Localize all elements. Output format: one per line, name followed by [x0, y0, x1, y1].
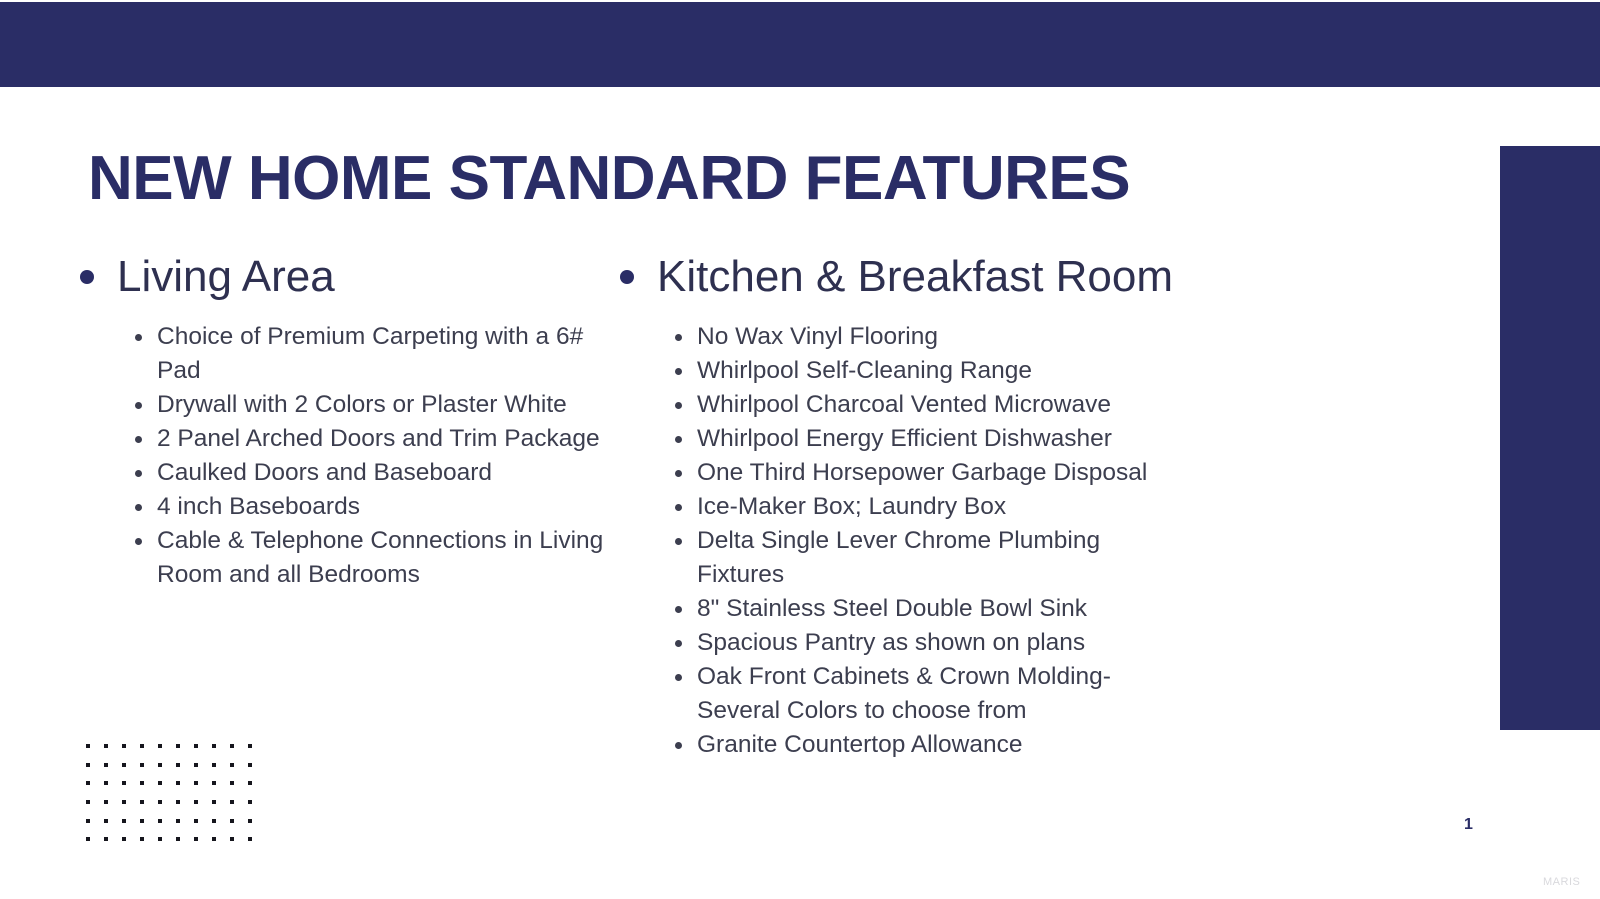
dot [86, 781, 90, 785]
list-item: Cable & Telephone Connections in Living … [135, 524, 620, 592]
dot [140, 781, 144, 785]
dot [104, 837, 108, 841]
dot [158, 837, 162, 841]
list-item: Oak Front Cabinets & Crown Molding- Seve… [675, 660, 1167, 728]
dot [212, 819, 216, 823]
right-navy-bar [1500, 146, 1600, 730]
dot [248, 763, 252, 767]
dot [230, 800, 234, 804]
list-item: Spacious Pantry as shown on plans [675, 626, 1167, 660]
dot [194, 763, 198, 767]
dot [248, 781, 252, 785]
dot [212, 781, 216, 785]
list-item: Choice of Premium Carpeting with a 6# Pa… [135, 320, 620, 388]
dot [194, 800, 198, 804]
feature-columns: Living Area Choice of Premium Carpeting … [0, 248, 1480, 808]
list-item: 4 inch Baseboards [135, 490, 620, 524]
dot [104, 819, 108, 823]
section-heading-living-area: Living Area [80, 248, 620, 306]
dot [122, 800, 126, 804]
list-item: No Wax Vinyl Flooring [675, 320, 1167, 354]
list-item: Granite Countertop Allowance [675, 728, 1167, 762]
dot [122, 837, 126, 841]
dot [158, 819, 162, 823]
dot [104, 800, 108, 804]
dot [122, 781, 126, 785]
dot [176, 781, 180, 785]
section-heading-kitchen-breakfast: Kitchen & Breakfast Room [620, 248, 1400, 306]
dot [230, 781, 234, 785]
dot [86, 837, 90, 841]
dot [140, 837, 144, 841]
dot [122, 744, 126, 748]
list-item: Caulked Doors and Baseboard [135, 456, 620, 490]
dot [248, 819, 252, 823]
dot [212, 800, 216, 804]
dot [176, 744, 180, 748]
dot [212, 763, 216, 767]
dot [158, 800, 162, 804]
section-title-label: Living Area [117, 248, 335, 306]
dot [140, 800, 144, 804]
dot [230, 744, 234, 748]
dot [176, 819, 180, 823]
dot [248, 744, 252, 748]
list-item: 2 Panel Arched Doors and Trim Package [135, 422, 620, 456]
feature-list-kitchen-breakfast: No Wax Vinyl Flooring Whirlpool Self-Cle… [620, 320, 1400, 762]
dot [86, 819, 90, 823]
dot [140, 744, 144, 748]
section-title-label: Kitchen & Breakfast Room [657, 248, 1173, 306]
dot [248, 800, 252, 804]
dot [176, 837, 180, 841]
dot [104, 763, 108, 767]
list-item: Drywall with 2 Colors or Plaster White [135, 388, 620, 422]
section-bullet-icon [80, 270, 94, 284]
list-item: Ice-Maker Box; Laundry Box [675, 490, 1167, 524]
list-item: Whirlpool Self-Cleaning Range [675, 354, 1167, 388]
page-title: NEW HOME STANDARD FEATURES [88, 140, 1130, 218]
list-item: Delta Single Lever Chrome Plumbing Fixtu… [675, 524, 1167, 592]
dot [194, 781, 198, 785]
dot [212, 744, 216, 748]
list-item: 8" Stainless Steel Double Bowl Sink [675, 592, 1167, 626]
dot [212, 837, 216, 841]
list-item: Whirlpool Energy Efficient Dishwasher [675, 422, 1167, 456]
list-item: One Third Horsepower Garbage Disposal [675, 456, 1167, 490]
dot [176, 800, 180, 804]
dot [230, 763, 234, 767]
dot [122, 763, 126, 767]
list-item: Whirlpool Charcoal Vented Microwave [675, 388, 1167, 422]
dot [194, 837, 198, 841]
slide-canvas: NEW HOME STANDARD FEATURES Living Area C… [0, 0, 1600, 899]
feature-column-living-area: Living Area Choice of Premium Carpeting … [0, 248, 620, 808]
dot [140, 763, 144, 767]
dot [122, 819, 126, 823]
section-bullet-icon [620, 270, 634, 284]
dot [86, 744, 90, 748]
watermark-label: MARIS [1543, 876, 1580, 888]
dot [104, 781, 108, 785]
dot [104, 744, 108, 748]
top-navy-band [0, 2, 1600, 87]
dot [86, 763, 90, 767]
dot-grid-decoration [86, 744, 266, 856]
dot [176, 763, 180, 767]
dot [158, 763, 162, 767]
dot [248, 837, 252, 841]
dot [86, 800, 90, 804]
page-number: 1 [1464, 816, 1473, 834]
dot [230, 837, 234, 841]
dot [230, 819, 234, 823]
dot [194, 744, 198, 748]
feature-column-kitchen-breakfast: Kitchen & Breakfast Room No Wax Vinyl Fl… [620, 248, 1400, 808]
feature-list-living-area: Choice of Premium Carpeting with a 6# Pa… [80, 320, 620, 592]
dot [158, 744, 162, 748]
dot [158, 781, 162, 785]
dot [140, 819, 144, 823]
dot [194, 819, 198, 823]
